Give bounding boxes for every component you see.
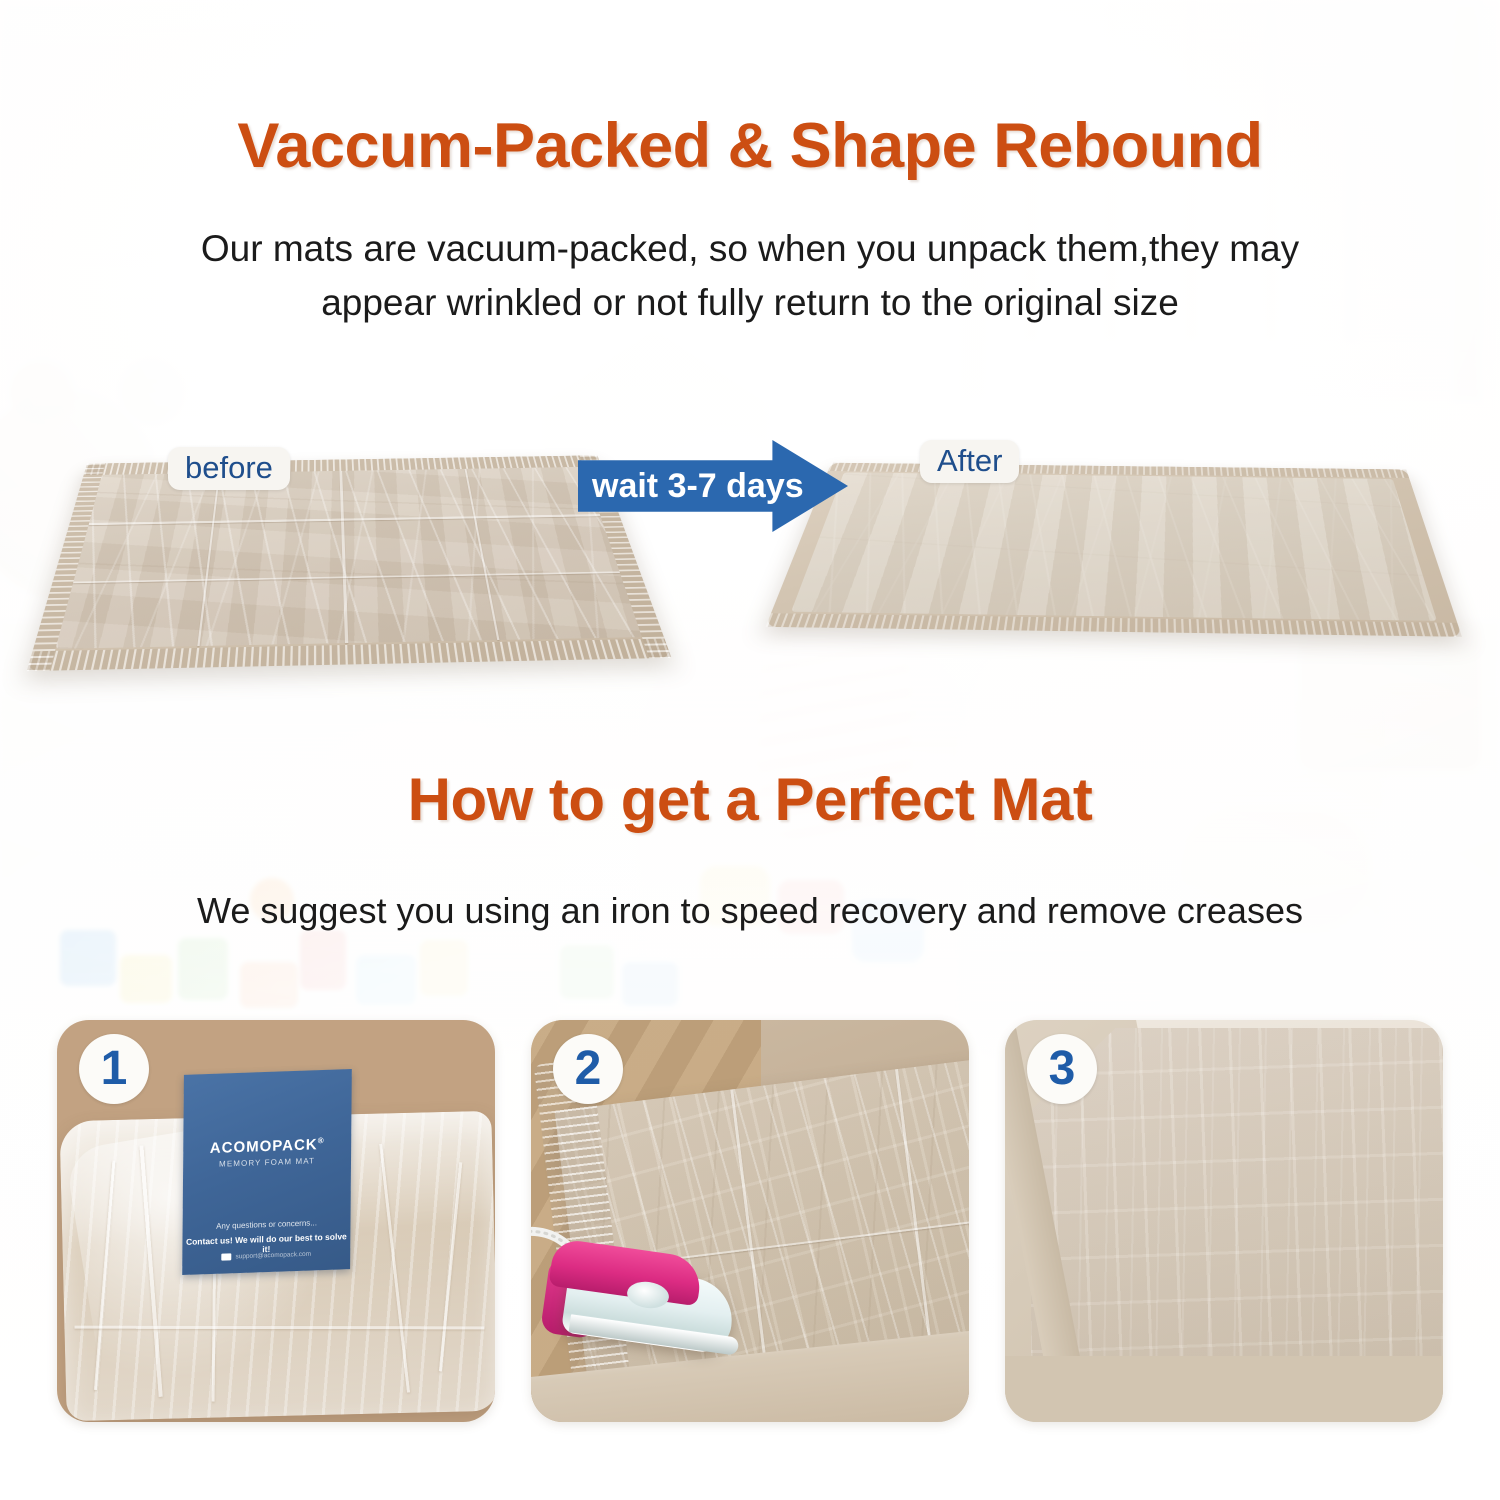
subtitle-rebound-line2: appear wrinkled or not fully return to t… xyxy=(0,276,1500,330)
label-brand: ACOMOPACK® xyxy=(183,1135,351,1158)
before-mat-wrinkles xyxy=(55,467,641,649)
label-email: support@acomopack.com xyxy=(235,1251,311,1261)
bag-fold xyxy=(439,1162,462,1371)
after-mat-texture xyxy=(791,472,1437,620)
step-number-badge-3: 3 xyxy=(1027,1034,1097,1104)
registered-trademark-icon: ® xyxy=(318,1136,325,1145)
envelope-icon xyxy=(221,1253,231,1260)
subtitle-rebound: Our mats are vacuum-packed, so when you … xyxy=(0,222,1500,329)
mat-front-edge xyxy=(1005,1356,1443,1422)
label-product: MEMORY FOAM MAT xyxy=(183,1155,351,1170)
page-title-perfect-mat: How to get a Perfect Mat xyxy=(0,765,1500,834)
after-label-badge: After xyxy=(920,440,1019,483)
after-mat-surface xyxy=(791,472,1437,620)
subtitle-rebound-line1: Our mats are vacuum-packed, so when you … xyxy=(0,222,1500,276)
bag-fold xyxy=(379,1144,410,1393)
page-title-rebound: Vaccum-Packed & Shape Rebound xyxy=(0,110,1500,182)
before-mat-surface xyxy=(55,467,641,649)
before-after-comparison: before wait 3-7 days After xyxy=(0,380,1500,700)
wait-arrow: wait 3-7 days xyxy=(578,440,848,532)
label-question: Any questions or concerns... xyxy=(183,1217,351,1232)
after-mat-image xyxy=(766,463,1462,637)
before-label-badge: before xyxy=(168,447,290,490)
step-card-2[interactable]: 2 xyxy=(531,1020,969,1422)
package-label: ACOMOPACK® MEMORY FOAM MAT Any questions… xyxy=(182,1069,352,1275)
step-card-1[interactable]: ACOMOPACK® MEMORY FOAM MAT Any questions… xyxy=(57,1020,495,1422)
step-cards: ACOMOPACK® MEMORY FOAM MAT Any questions… xyxy=(0,1020,1500,1422)
step-number-badge-2: 2 xyxy=(553,1034,623,1104)
step-card-3[interactable]: 3 xyxy=(1005,1020,1443,1422)
step-number-badge-1: 1 xyxy=(79,1034,149,1104)
wait-arrow-label: wait 3-7 days xyxy=(592,464,792,508)
before-mat-image xyxy=(27,455,672,671)
subtitle-perfect-mat: We suggest you using an iron to speed re… xyxy=(0,885,1500,937)
